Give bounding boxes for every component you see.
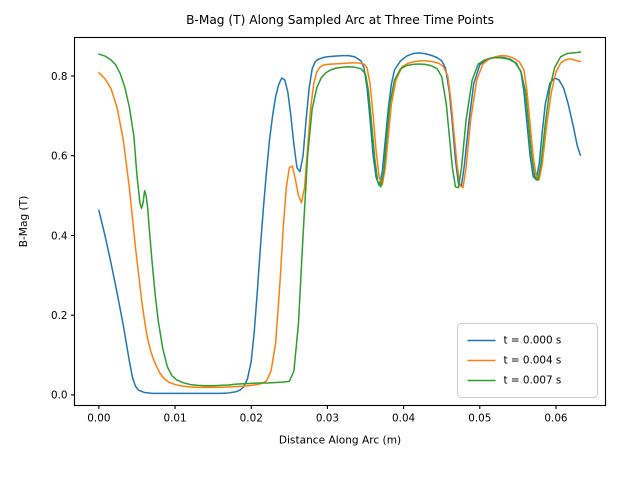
- x-tick-label: 0.02: [240, 413, 263, 425]
- legend[interactable]: t = 0.000 st = 0.004 st = 0.007 s: [458, 324, 598, 398]
- x-tick-label: 0.03: [316, 413, 339, 425]
- x-tick-label: 0.06: [544, 413, 567, 425]
- x-axis-label: Distance Along Arc (m): [279, 435, 401, 447]
- x-tick-label: 0.01: [163, 413, 186, 425]
- x-axis: 0.000.010.020.030.040.050.06: [87, 406, 567, 425]
- x-tick-label: 0.05: [468, 413, 491, 425]
- legend-label-0: t = 0.000 s: [504, 335, 562, 347]
- x-tick-label: 0.04: [392, 413, 416, 425]
- legend-label-2: t = 0.007 s: [504, 375, 562, 387]
- legend-label-1: t = 0.004 s: [504, 355, 562, 367]
- y-axis: 0.00.20.40.60.8: [51, 71, 75, 402]
- y-tick-label: 0.8: [51, 71, 68, 83]
- chart-title: B-Mag (T) Along Sampled Arc at Three Tim…: [186, 13, 494, 27]
- y-tick-label: 0.0: [51, 390, 68, 402]
- y-tick-label: 0.6: [51, 151, 68, 163]
- figure-canvas: B-Mag (T) Along Sampled Arc at Three Tim…: [0, 0, 640, 480]
- y-axis-label: B-Mag (T): [18, 196, 30, 248]
- y-tick-label: 0.4: [51, 230, 68, 242]
- y-tick-label: 0.2: [51, 310, 68, 322]
- x-tick-label: 0.00: [87, 413, 110, 425]
- line-chart: B-Mag (T) Along Sampled Arc at Three Tim…: [0, 0, 640, 480]
